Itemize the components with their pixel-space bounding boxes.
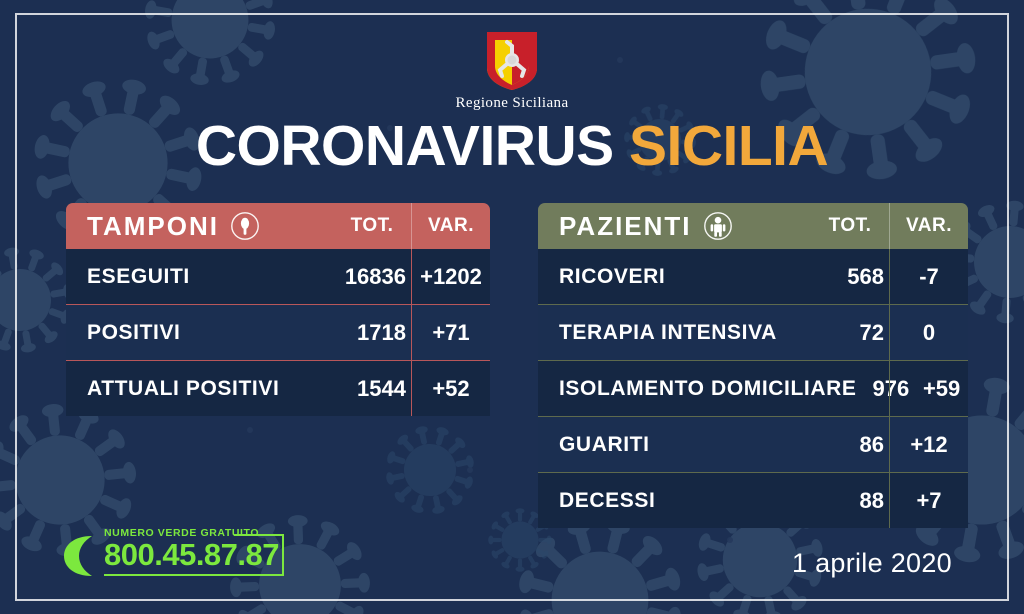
- panel-pazienti-body: RICOVERI 568 -7 TERAPIA INTENSIVA 72 0 I…: [538, 249, 968, 528]
- panel-tamponi: TAMPONI TOT. VAR. ESE: [66, 203, 490, 416]
- panel-tamponi-header: TAMPONI TOT. VAR.: [66, 203, 490, 249]
- regione-siciliana-emblem: Regione Siciliana: [0, 30, 1024, 112]
- panel-tamponi-col-total: TOT.: [333, 203, 411, 249]
- panel-tamponi-col-variation: VAR.: [411, 203, 490, 249]
- row-label: DECESSI: [538, 489, 655, 513]
- column-divider: [411, 305, 412, 360]
- panel-tamponi-body: ESEGUITI 16836 +1202 POSITIVI 1718 +71 A…: [66, 249, 490, 416]
- table-row: TERAPIA INTENSIVA 72 0: [538, 304, 968, 360]
- row-variation: 0: [890, 320, 968, 346]
- column-divider: [889, 249, 890, 304]
- row-label: ISOLAMENTO DOMICILIARE: [538, 377, 856, 401]
- numero-verde-rule-right: [282, 534, 284, 576]
- person-icon: [703, 211, 733, 241]
- table-row: ISOLAMENTO DOMICILIARE 976 +59: [538, 360, 968, 416]
- numero-verde-rule-top: [234, 534, 284, 536]
- row-total: 976: [856, 376, 915, 402]
- panel-tamponi-title: TAMPONI: [87, 211, 219, 242]
- table-row: POSITIVI 1718 +71: [66, 304, 490, 360]
- sicily-trinacria-coat-of-arms-icon: [485, 30, 539, 92]
- panel-pazienti-col-variation: VAR.: [889, 203, 968, 249]
- panel-pazienti-title: PAZIENTI: [559, 211, 692, 242]
- row-variation: +52: [412, 376, 490, 402]
- row-variation: +71: [412, 320, 490, 346]
- row-label: RICOVERI: [538, 265, 665, 289]
- panel-pazienti-col-total: TOT.: [811, 203, 889, 249]
- phone-handset-icon: [58, 533, 100, 579]
- row-total: 16836: [328, 264, 412, 290]
- page-title-main: CORONAVIRUS: [196, 114, 614, 178]
- numero-verde-number[interactable]: 800.45.87.87: [104, 537, 279, 573]
- swab-icon: [230, 211, 260, 241]
- numero-verde-rule-bottom: [104, 574, 284, 576]
- row-total: 86: [806, 432, 890, 458]
- row-variation: +59: [915, 376, 968, 402]
- row-label: TERAPIA INTENSIVA: [538, 321, 777, 345]
- row-total: 72: [806, 320, 890, 346]
- row-variation: +1202: [412, 264, 490, 290]
- row-variation: -7: [890, 264, 968, 290]
- report-date: 1 aprile 2020: [792, 548, 952, 579]
- page-title-accent: SICILIA: [629, 114, 828, 178]
- column-divider: [411, 361, 412, 416]
- panel-pazienti-title-group: PAZIENTI: [538, 211, 733, 242]
- column-divider: [889, 305, 890, 360]
- row-label: ATTUALI POSITIVI: [66, 377, 279, 401]
- table-row: RICOVERI 568 -7: [538, 249, 968, 304]
- coronavirus-sicilia-infographic: Regione Siciliana CORONAVIRUS SICILIA TA…: [0, 0, 1024, 614]
- row-total: 568: [806, 264, 890, 290]
- row-total: 1544: [328, 376, 412, 402]
- table-row: ATTUALI POSITIVI 1544 +52: [66, 360, 490, 416]
- row-total: 88: [806, 488, 890, 514]
- numero-verde-block[interactable]: NUMERO VERDE GRATUITO 800.45.87.87: [58, 527, 290, 583]
- row-label: POSITIVI: [66, 321, 181, 345]
- column-divider: [889, 361, 890, 416]
- table-row: ESEGUITI 16836 +1202: [66, 249, 490, 304]
- emblem-caption: Regione Siciliana: [0, 95, 1024, 112]
- table-row: DECESSI 88 +7: [538, 472, 968, 528]
- row-variation: +12: [890, 432, 968, 458]
- row-total: 1718: [328, 320, 412, 346]
- panel-pazienti: PAZIENTI TOT. VAR.: [538, 203, 968, 528]
- column-divider: [889, 473, 890, 528]
- row-label: GUARITI: [538, 433, 650, 457]
- column-divider: [889, 417, 890, 472]
- page-title: CORONAVIRUS SICILIA: [0, 118, 1024, 175]
- panel-tamponi-title-group: TAMPONI: [66, 211, 260, 242]
- row-label: ESEGUITI: [66, 265, 190, 289]
- table-row: GUARITI 86 +12: [538, 416, 968, 472]
- panel-pazienti-header: PAZIENTI TOT. VAR.: [538, 203, 968, 249]
- column-divider: [411, 249, 412, 304]
- row-variation: +7: [890, 488, 968, 514]
